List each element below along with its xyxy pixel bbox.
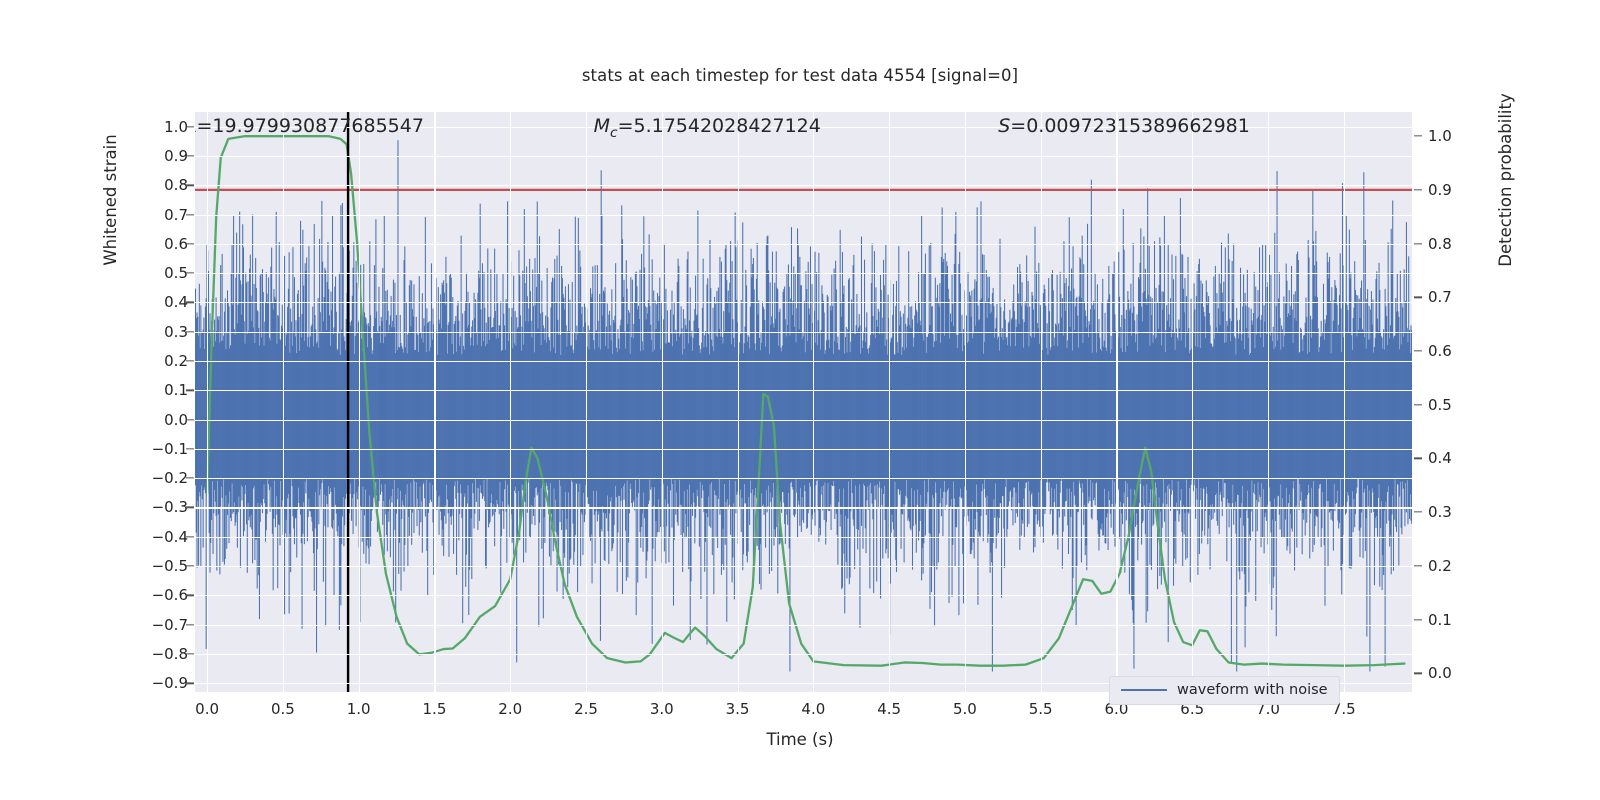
gridline-vertical [813,112,814,692]
waveform-sample [1411,330,1412,524]
y-axis-right-tick-label: 0.7 [1428,288,1488,306]
legend-label-waveform: waveform with noise [1177,682,1328,698]
y-axis-right-tick-label: 0.5 [1428,396,1488,414]
annotation-chirp-mass: Mc=5.17542028427124 [594,115,821,141]
y-axis-left-tick-mark [186,331,194,332]
gridline-horizontal [195,654,1412,655]
y-axis-left-tick-label: −0.9 [118,674,188,692]
y-axis-left-tick-mark [186,360,194,361]
y-axis-left-tick-mark [186,565,194,566]
figure: stats at each timestep for test data 455… [0,0,1600,800]
gridline-vertical [738,112,739,692]
y-axis-right-tick-mark [1414,619,1422,620]
gridline-horizontal [195,185,1412,186]
gridline-horizontal [195,595,1412,596]
series-waveform-with-noise [195,140,1412,671]
gridline-horizontal [195,420,1412,421]
y-axis-left-tick-label: 0.9 [118,147,188,165]
x-axis-tick-label: 1.0 [329,700,389,718]
y-axis-left-tick-label: −0.4 [118,528,188,546]
y-axis-right-tick-mark [1414,511,1422,512]
page-title: stats at each timestep for test data 455… [0,66,1600,85]
gridline-vertical [283,112,284,692]
gridline-vertical [434,112,435,692]
y-axis-left-tick-label: 0.0 [118,411,188,429]
y-axis-left-tick-mark [186,419,194,420]
gridline-horizontal [195,537,1412,538]
y-axis-right-tick-label: 0.0 [1428,664,1488,682]
gridline-horizontal [195,449,1412,450]
y-axis-right-tick-mark [1414,136,1422,137]
x-axis-tick-label: 2.5 [556,700,616,718]
plot-area: SNR=19.979930877685547 Mc=5.175420284271… [195,112,1412,692]
y-axis-left-tick-mark [186,595,194,596]
y-axis-left-tick-label: 0.3 [118,323,188,341]
y-axis-left-tick-mark [186,683,194,684]
gridline-horizontal [195,566,1412,567]
y-axis-left-tick-mark [186,448,194,449]
data-layer [195,112,1412,692]
y-axis-left-tick-mark [186,302,194,303]
gridline-vertical [1344,112,1345,692]
x-axis-tick-label: 1.5 [404,700,464,718]
gridline-horizontal [195,507,1412,508]
gridline-horizontal [195,332,1412,333]
y-axis-left-tick-mark [186,272,194,273]
y-axis-right-label: Detection probability [1496,70,1515,290]
y-axis-right-tick-label: 0.3 [1428,503,1488,521]
x-axis-tick-label: 4.0 [783,700,843,718]
y-axis-left-tick-label: 0.2 [118,352,188,370]
y-axis-left-tick-mark [186,507,194,508]
annotation-significance: S=0.00972315389662981 [998,115,1250,137]
y-axis-left-tick-mark [186,126,194,127]
gridline-vertical [1268,112,1269,692]
y-axis-right-tick-mark [1414,243,1422,244]
gridline-horizontal [195,390,1412,391]
y-axis-left-tick-mark [186,185,194,186]
y-axis-left-tick-mark [186,478,194,479]
y-axis-right-tick-label: 0.9 [1428,181,1488,199]
y-axis-left-tick-mark [186,536,194,537]
y-axis-right-tick-label: 0.4 [1428,449,1488,467]
y-axis-right-tick-label: 0.8 [1428,235,1488,253]
x-axis-tick-label: 3.0 [632,700,692,718]
y-axis-left-tick-label: −0.5 [118,557,188,575]
y-axis-left-tick-mark [186,624,194,625]
y-axis-left-tick-mark [186,653,194,654]
gridline-vertical [586,112,587,692]
gridline-horizontal [195,478,1412,479]
y-axis-right-tick-mark [1414,565,1422,566]
gridline-vertical [1192,112,1193,692]
gridline-vertical [1041,112,1042,692]
y-axis-left-tick-label: −0.6 [118,586,188,604]
x-axis-tick-label: 2.0 [480,700,540,718]
x-axis-tick-label: 0.0 [177,700,237,718]
y-axis-left-tick-mark [186,155,194,156]
y-axis-left-tick-label: −0.2 [118,469,188,487]
y-axis-left-tick-label: −0.3 [118,498,188,516]
y-axis-left-tick-mark [186,214,194,215]
x-axis-tick-label: 5.5 [1011,700,1071,718]
gridline-vertical [889,112,890,692]
x-axis-tick-label: 3.5 [708,700,768,718]
gridline-horizontal [195,302,1412,303]
x-axis-tick-label: 5.0 [935,700,995,718]
y-axis-left-tick-label: −0.8 [118,645,188,663]
y-axis-left-tick-label: 0.4 [118,293,188,311]
gridline-horizontal [195,625,1412,626]
legend: waveform with noise [1109,676,1340,705]
y-axis-left-tick-label: −0.1 [118,440,188,458]
gridline-horizontal [195,215,1412,216]
gridline-vertical [965,112,966,692]
y-axis-left-tick-mark [186,390,194,391]
gridline-vertical [359,112,360,692]
y-axis-right-tick-label: 0.6 [1428,342,1488,360]
y-axis-right-tick-label: 0.1 [1428,611,1488,629]
y-axis-right-tick-mark [1414,673,1422,674]
annotation-snr: SNR=19.979930877685547 [195,115,424,137]
y-axis-left-tick-label: 0.1 [118,381,188,399]
y-axis-left-tick-label: 0.8 [118,176,188,194]
y-axis-left-tick-label: 0.5 [118,264,188,282]
y-axis-left-tick-label: 0.6 [118,235,188,253]
y-axis-right-tick-mark [1414,350,1422,351]
y-axis-right-tick-mark [1414,458,1422,459]
gridline-horizontal [195,244,1412,245]
gridline-horizontal [195,156,1412,157]
y-axis-right-tick-mark [1414,297,1422,298]
gridline-horizontal [195,273,1412,274]
y-axis-left-tick-label: 1.0 [118,118,188,136]
y-axis-left-tick-mark [186,243,194,244]
gridline-vertical [1116,112,1117,692]
y-axis-right-tick-label: 0.2 [1428,557,1488,575]
gridline-vertical [207,112,208,692]
y-axis-right-tick-mark [1414,189,1422,190]
y-axis-right-tick-mark [1414,404,1422,405]
y-axis-right-tick-label: 1.0 [1428,127,1488,145]
x-axis-label: Time (s) [0,730,1600,749]
gridline-vertical [510,112,511,692]
y-axis-left-tick-label: −0.7 [118,616,188,634]
x-axis-tick-label: 0.5 [253,700,313,718]
x-axis-tick-label: 4.5 [859,700,919,718]
legend-swatch-waveform [1121,689,1167,691]
y-axis-left-tick-label: 0.7 [118,206,188,224]
gridline-horizontal [195,361,1412,362]
gridline-vertical [662,112,663,692]
